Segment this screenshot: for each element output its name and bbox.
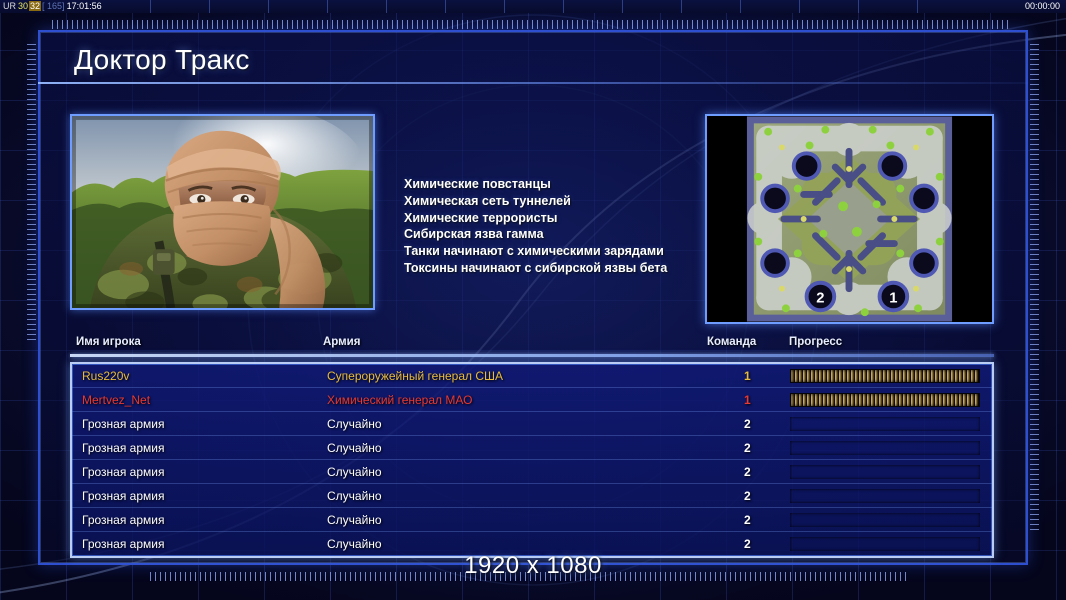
player-progress bbox=[790, 489, 980, 503]
player-progress bbox=[790, 393, 980, 407]
progress-bar bbox=[790, 465, 980, 479]
title-divider bbox=[38, 82, 1028, 84]
table-row[interactable]: Rus220v Супероружейный генерал США 1 bbox=[72, 364, 992, 388]
player-progress bbox=[790, 441, 980, 455]
status-bar-left-group: UR3032[ 165]17:01:56 bbox=[2, 0, 103, 13]
page-title: Доктор Тракс bbox=[74, 44, 1028, 76]
progress-bar bbox=[790, 489, 980, 503]
header-divider bbox=[70, 354, 994, 357]
player-name[interactable]: Грозная армия bbox=[82, 412, 164, 436]
column-header-name: Имя игрока bbox=[76, 336, 141, 348]
general-portrait bbox=[70, 114, 375, 310]
status-time: 17:01:56 bbox=[66, 1, 103, 11]
status-value-1: 30 bbox=[17, 1, 29, 11]
game-lobby-screen: UR3032[ 165]17:01:56 00:00:00 Доктор Тра… bbox=[0, 0, 1066, 600]
table-row[interactable]: Грозная армия Случайно 2 bbox=[72, 508, 992, 532]
info-section: Химические повстанцы Химическая сеть тун… bbox=[70, 114, 994, 324]
svg-text:1: 1 bbox=[889, 290, 897, 306]
status-label: UR bbox=[2, 1, 17, 11]
ruler-top bbox=[52, 20, 1012, 29]
player-team[interactable]: 2 bbox=[744, 412, 751, 436]
player-army[interactable]: Случайно bbox=[327, 460, 382, 484]
player-team[interactable]: 1 bbox=[744, 364, 751, 388]
player-team[interactable]: 1 bbox=[744, 388, 751, 412]
table-row[interactable]: Грозная армия Случайно 2 bbox=[72, 436, 992, 460]
player-team[interactable]: 2 bbox=[744, 436, 751, 460]
status-value-2: 32 bbox=[29, 1, 41, 11]
player-name[interactable]: Грозная армия bbox=[82, 436, 164, 460]
player-army[interactable]: Химический генерал МАО bbox=[327, 388, 472, 412]
column-header-progress: Прогресс bbox=[789, 336, 842, 348]
player-list: Имя игрока Армия Команда Прогресс Rus220… bbox=[70, 336, 994, 558]
player-name[interactable]: Грозная армия bbox=[82, 484, 164, 508]
table-row[interactable]: Mertvez_Net Химический генерал МАО 1 bbox=[72, 388, 992, 412]
player-team[interactable]: 2 bbox=[744, 508, 751, 532]
player-army[interactable]: Случайно bbox=[327, 484, 382, 508]
player-name[interactable]: Грозная армия bbox=[82, 508, 164, 532]
player-army[interactable]: Супероружейный генерал США bbox=[327, 364, 503, 388]
status-bracket: [ 165] bbox=[41, 1, 66, 11]
player-rows: Rus220v Супероружейный генерал США 1 Mer… bbox=[70, 362, 994, 558]
svg-text:2: 2 bbox=[816, 290, 824, 306]
column-header-army: Армия bbox=[323, 336, 360, 348]
player-progress bbox=[790, 537, 980, 551]
table-row[interactable]: Грозная армия Случайно 2 bbox=[72, 412, 992, 436]
player-name[interactable]: Грозная армия bbox=[82, 460, 164, 484]
ruler-right bbox=[1030, 44, 1039, 534]
resolution-label: 1920 x 1080 bbox=[0, 552, 1066, 580]
minimap-preview[interactable]: 2 1 bbox=[705, 114, 994, 324]
column-header-team: Команда bbox=[707, 336, 756, 348]
title-section: Доктор Тракс bbox=[38, 44, 1028, 84]
progress-bar bbox=[790, 513, 980, 527]
player-progress bbox=[790, 465, 980, 479]
progress-bar bbox=[790, 441, 980, 455]
player-name: Rus220v bbox=[82, 364, 129, 388]
progress-bar bbox=[790, 537, 980, 551]
player-list-header: Имя игрока Армия Команда Прогресс bbox=[70, 336, 994, 356]
general-description: Химические повстанцы Химическая сеть тун… bbox=[386, 114, 758, 310]
player-team[interactable]: 2 bbox=[744, 460, 751, 484]
player-army[interactable]: Случайно bbox=[327, 412, 382, 436]
table-row[interactable]: Грозная армия Случайно 2 bbox=[72, 484, 992, 508]
progress-bar bbox=[790, 393, 980, 407]
player-name: Mertvez_Net bbox=[82, 388, 150, 412]
status-bar-tick-marks bbox=[150, 0, 956, 13]
progress-bar bbox=[790, 417, 980, 431]
player-progress bbox=[790, 513, 980, 527]
progress-bar bbox=[790, 369, 980, 383]
player-army[interactable]: Случайно bbox=[327, 436, 382, 460]
ruler-left bbox=[27, 44, 36, 344]
player-army[interactable]: Случайно bbox=[327, 508, 382, 532]
player-team[interactable]: 2 bbox=[744, 484, 751, 508]
top-status-bar: UR3032[ 165]17:01:56 00:00:00 bbox=[0, 0, 1066, 13]
player-progress bbox=[790, 417, 980, 431]
player-progress bbox=[790, 369, 980, 383]
table-row[interactable]: Грозная армия Случайно 2 bbox=[72, 460, 992, 484]
status-clock: 00:00:00 bbox=[1025, 0, 1060, 13]
